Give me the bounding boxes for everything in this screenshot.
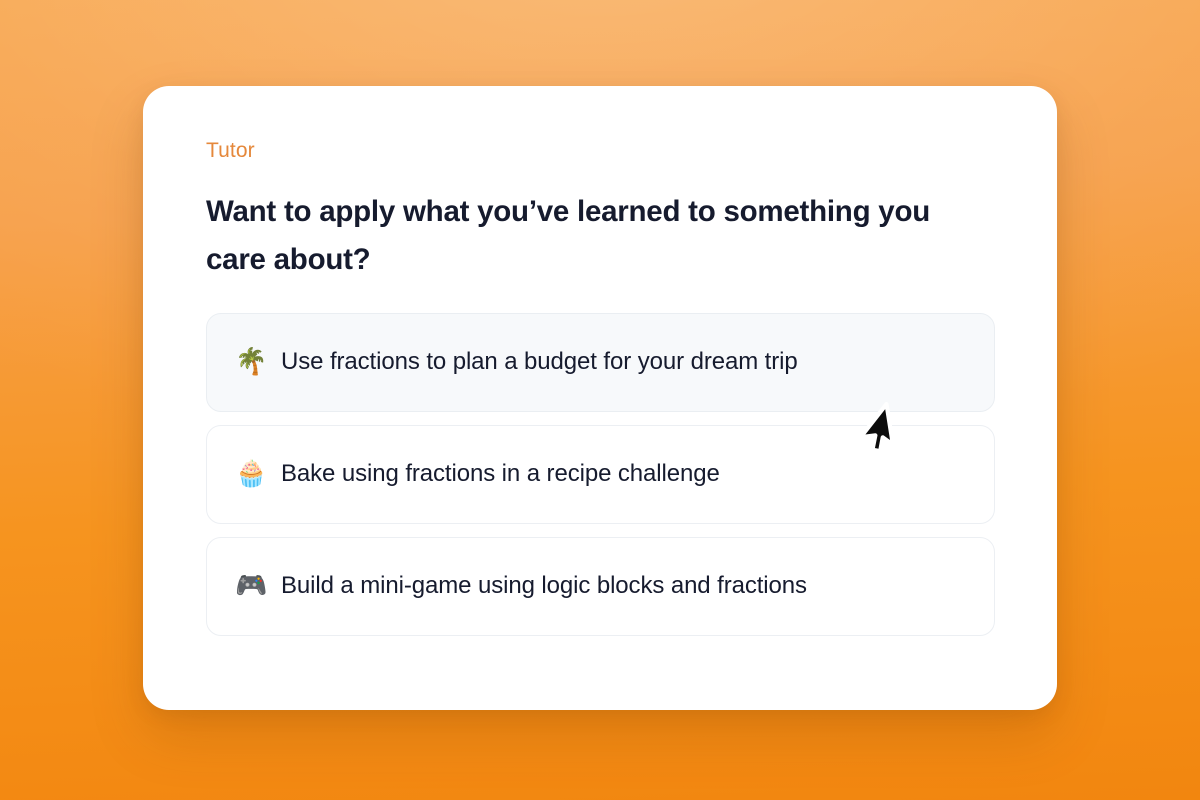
suggestion-option-list: 🌴 Use fractions to plan a budget for you… <box>206 313 995 636</box>
palm-tree-emoji: 🌴 <box>235 349 265 375</box>
video-game-controller-emoji: 🎮 <box>235 573 265 599</box>
page-title: Want to apply what you’ve learned to som… <box>206 188 995 284</box>
suggestion-option-mini-game[interactable]: 🎮 Build a mini-game using logic blocks a… <box>206 537 995 636</box>
suggestion-option-label: Build a mini-game using logic blocks and… <box>281 572 807 600</box>
cupcake-emoji: 🧁 <box>235 461 265 487</box>
tutor-suggestion-card: Tutor Want to apply what you’ve learned … <box>143 86 1057 710</box>
suggestion-option-label: Use fractions to plan a budget for your … <box>281 348 798 376</box>
speaker-label: Tutor <box>206 140 995 161</box>
suggestion-option-label: Bake using fractions in a recipe challen… <box>281 460 720 488</box>
suggestion-option-recipe-challenge[interactable]: 🧁 Bake using fractions in a recipe chall… <box>206 425 995 524</box>
suggestion-option-dream-trip[interactable]: 🌴 Use fractions to plan a budget for you… <box>206 313 995 412</box>
